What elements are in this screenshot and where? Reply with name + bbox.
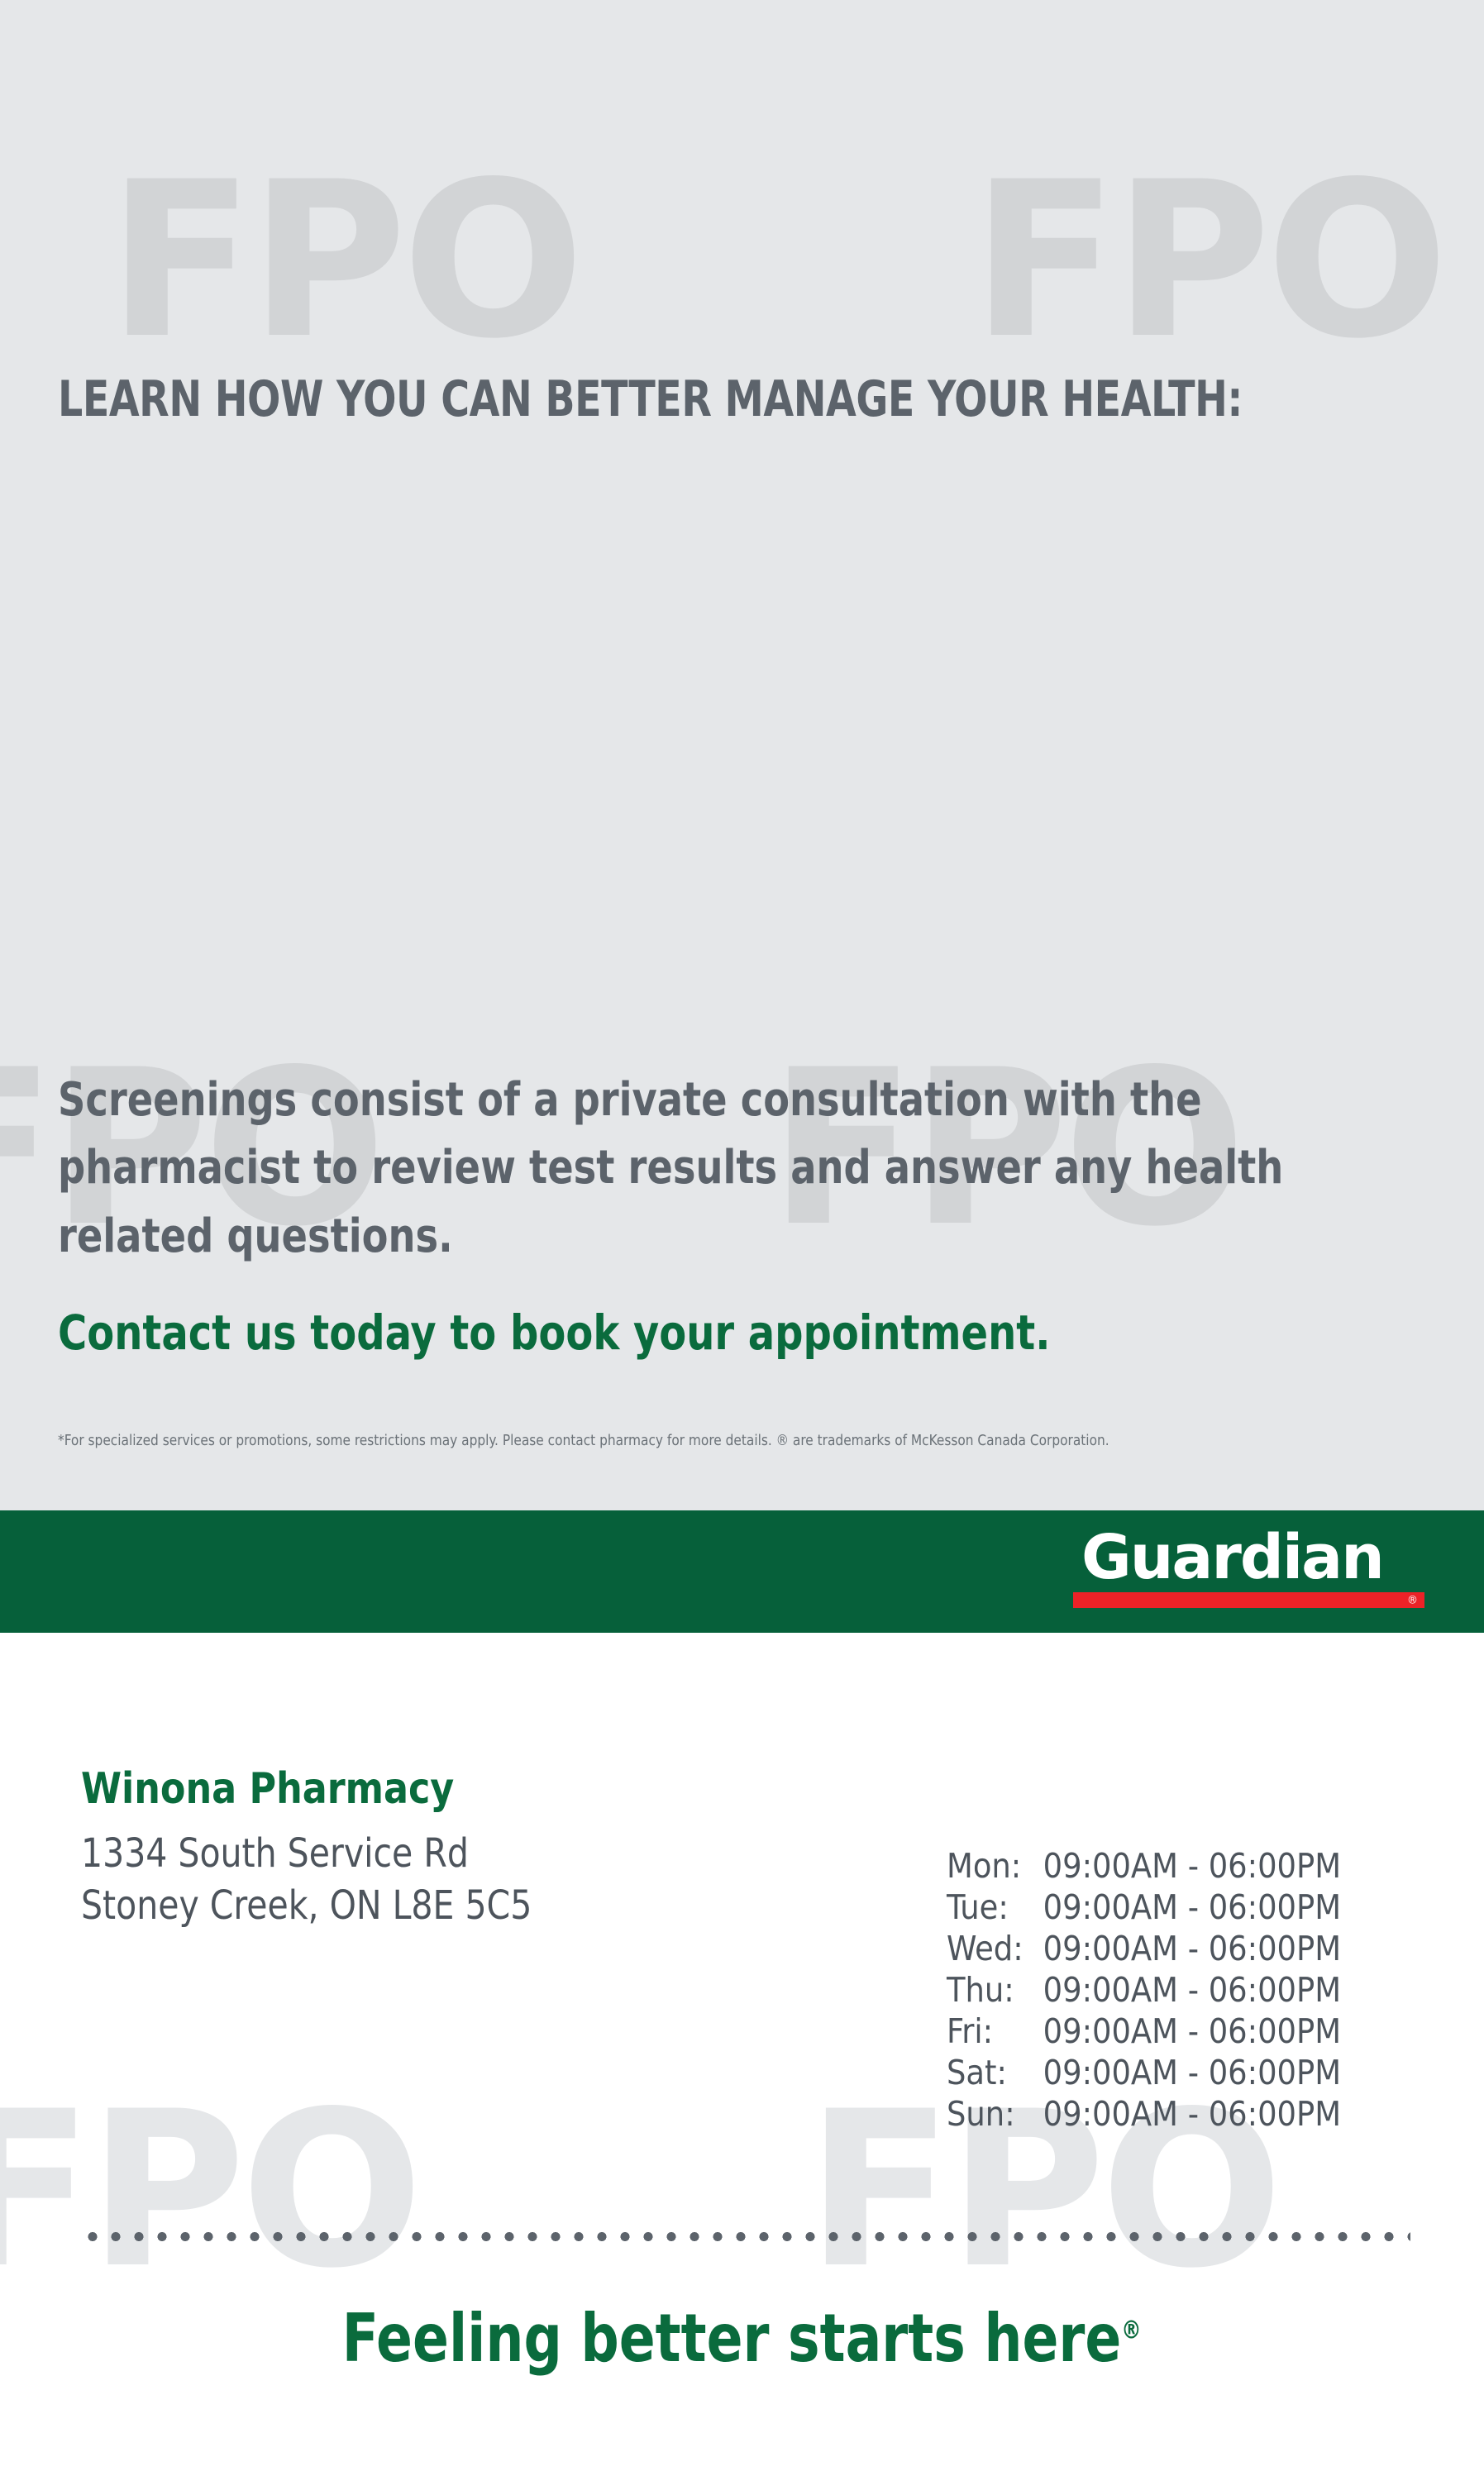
hours-time-value: 09:00AM - 06:00PM xyxy=(1043,1887,1341,1928)
registered-trademark-icon: ® xyxy=(1407,1595,1418,1605)
table-row: Sun: 09:00AM - 06:00PM xyxy=(947,2093,1341,2135)
registered-trademark-icon: ® xyxy=(1122,2316,1142,2345)
hours-day-label: Mon: xyxy=(947,1845,1043,1887)
hours-time-value: 09:00AM - 06:00PM xyxy=(1043,2011,1341,2052)
brand-tagline-inner: Feeling better starts here® xyxy=(342,2302,1142,2375)
promo-panel xyxy=(0,0,1484,1510)
brand-band: Guardian ® xyxy=(0,1510,1484,1633)
store-hours-table: Mon: 09:00AM - 06:00PM Tue: 09:00AM - 06… xyxy=(947,1845,1341,2135)
promo-cta-text: Contact us today to book your appointmen… xyxy=(58,1305,1336,1362)
store-address-line-1: 1334 South Service Rd xyxy=(81,1828,788,1880)
hours-time-value: 09:00AM - 06:00PM xyxy=(1043,2052,1341,2093)
table-row: Sat: 09:00AM - 06:00PM xyxy=(947,2052,1341,2093)
promo-headline: LEARN HOW YOU CAN BETTER MANAGE YOUR HEA… xyxy=(58,374,1280,426)
hours-day-label: Tue: xyxy=(947,1887,1043,1928)
hours-day-label: Thu: xyxy=(947,1969,1043,2011)
hours-day-label: Fri: xyxy=(947,2011,1043,2052)
store-details: Winona Pharmacy 1334 South Service Rd St… xyxy=(81,1765,825,1933)
guardian-logo: Guardian ® xyxy=(1073,1529,1424,1608)
table-row: Wed: 09:00AM - 06:00PM xyxy=(947,1928,1341,1969)
guardian-wordmark: Guardian xyxy=(1073,1529,1424,1586)
store-name: Winona Pharmacy xyxy=(81,1765,788,1815)
hours-time-value: 09:00AM - 06:00PM xyxy=(1043,1928,1341,1969)
dotted-divider xyxy=(81,2232,1410,2241)
brand-tagline-text: Feeling better starts here xyxy=(342,2300,1122,2377)
table-row: Mon: 09:00AM - 06:00PM xyxy=(947,1845,1341,1887)
hours-time-value: 09:00AM - 06:00PM xyxy=(1043,1969,1341,2011)
pharmacy-promo-poster: FPO FPO FPO FPO FPO FPO LEARN HOW YOU CA… xyxy=(0,0,1484,2476)
guardian-red-rule: ® xyxy=(1073,1592,1424,1608)
promo-body-text: Screenings consist of a private consulta… xyxy=(58,1066,1305,1271)
hours-time-value: 09:00AM - 06:00PM xyxy=(1043,1845,1341,1887)
hours-day-label: Sun: xyxy=(947,2093,1043,2135)
hours-day-label: Wed: xyxy=(947,1928,1043,1969)
brand-tagline: Feeling better starts here® xyxy=(0,2302,1484,2375)
hours-day-label: Sat: xyxy=(947,2052,1043,2093)
table-row: Fri: 09:00AM - 06:00PM xyxy=(947,2011,1341,2052)
hours-time-value: 09:00AM - 06:00PM xyxy=(1043,2093,1341,2135)
store-hours-body: Mon: 09:00AM - 06:00PM Tue: 09:00AM - 06… xyxy=(947,1845,1341,2135)
table-row: Tue: 09:00AM - 06:00PM xyxy=(947,1887,1341,1928)
store-address-line-2: Stoney Creek, ON L8E 5C5 xyxy=(81,1880,788,1932)
table-row: Thu: 09:00AM - 06:00PM xyxy=(947,1969,1341,2011)
store-address: 1334 South Service Rd Stoney Creek, ON L… xyxy=(81,1828,788,1933)
legal-fine-print: *For specialized services or promotions,… xyxy=(58,1431,1386,1450)
